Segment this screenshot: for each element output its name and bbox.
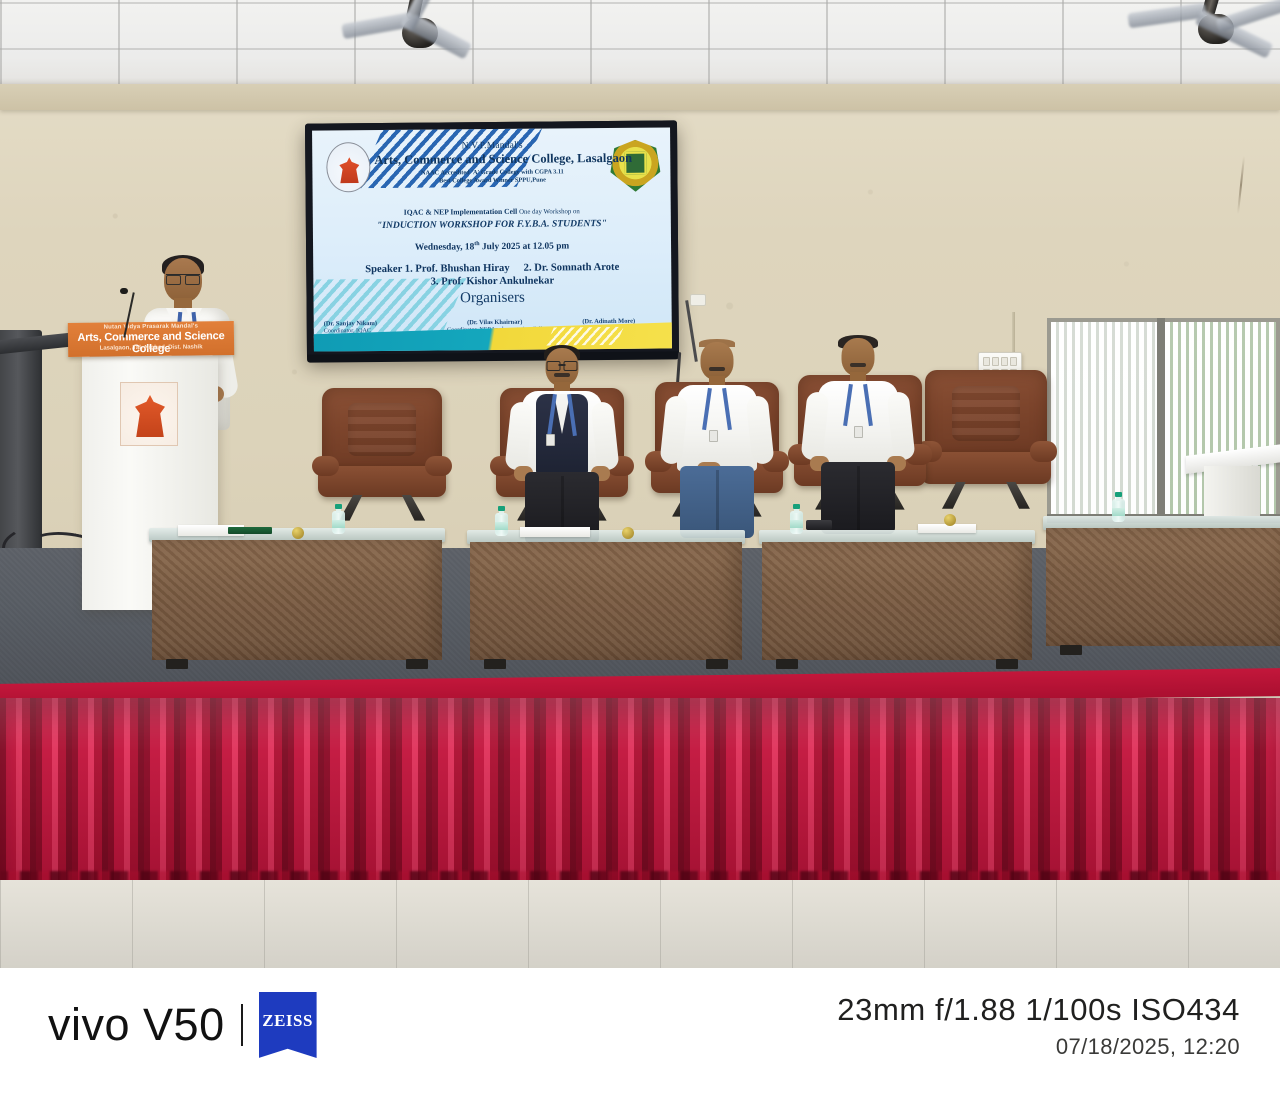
ceiling <box>0 0 1280 96</box>
table-body <box>152 540 442 660</box>
lamp-glyph <box>339 157 359 183</box>
table-foot <box>484 659 506 669</box>
mobile-phone <box>806 520 832 530</box>
green-book <box>228 527 272 534</box>
slide-cell-line: IQAC & NEP Implementation Cell One day W… <box>337 206 647 218</box>
chair-armrest <box>312 456 338 477</box>
bottle-cap <box>793 504 800 509</box>
empty-chair <box>925 370 1047 506</box>
chair-base <box>339 495 425 521</box>
presentation-slide: N.V.P.Mandal's Arts, Commerce and Scienc… <box>312 127 672 351</box>
empty-chair <box>322 388 442 518</box>
vertical-blinds <box>1051 322 1157 519</box>
papers-stack <box>520 527 590 537</box>
slide-college-name: Arts, Commerce and Science College, Lasa… <box>374 151 610 168</box>
table-foot <box>1060 645 1082 655</box>
zeiss-logo-icon: ZEISS <box>259 992 317 1058</box>
table <box>152 528 442 660</box>
stage-skirt-sheen <box>0 698 1280 888</box>
table-body <box>470 542 742 660</box>
mustache <box>850 363 866 367</box>
spectacles <box>547 361 578 369</box>
shirt <box>818 381 898 467</box>
water-bottle <box>1112 492 1125 522</box>
switch <box>1001 357 1008 366</box>
exif-timestamp: 07/18/2025, 12:20 <box>837 1034 1240 1060</box>
switch <box>1010 357 1017 366</box>
trousers <box>821 462 895 534</box>
university-crest-logo-icon <box>610 140 660 192</box>
water-bottle <box>790 504 803 534</box>
window-pane <box>1051 322 1157 519</box>
stage-skirt <box>0 676 1280 891</box>
shirt <box>677 385 757 471</box>
college-emblem-icon <box>120 382 178 446</box>
brand-name: vivo V50 <box>48 999 225 1051</box>
exif-settings: 23mm f/1.88 1/100s ISO434 <box>837 992 1240 1028</box>
nehru-jacket <box>536 394 588 474</box>
slide-date-post: July 2025 at 12.05 pm <box>480 241 570 252</box>
water-bottle <box>332 504 345 534</box>
table-foot <box>776 659 798 669</box>
slide-speakers-block: Speaker 1. Prof. Bhushan Hiray2. Dr. Som… <box>331 262 653 309</box>
switch <box>983 357 990 366</box>
floor-tiles <box>0 880 1280 968</box>
slide-award-line: Best College Award Winner SPPU,Pune <box>374 176 610 185</box>
table-foot <box>706 659 728 669</box>
brass-bell <box>622 527 634 539</box>
spectacles <box>166 274 200 282</box>
mustache <box>554 373 570 377</box>
chair-armrest <box>1030 441 1057 463</box>
brand-divider <box>241 1004 243 1046</box>
zeiss-wordmark: ZEISS <box>262 1011 313 1031</box>
brass-bell <box>944 514 956 526</box>
head <box>701 342 734 380</box>
bottle-label <box>332 520 345 528</box>
slide-mandal-line: N.V.P.Mandal's <box>374 140 610 152</box>
wall-socket <box>690 294 706 306</box>
head <box>842 338 875 376</box>
slide-workshop-block: IQAC & NEP Implementation Cell One day W… <box>337 206 647 254</box>
table-foot <box>996 659 1018 669</box>
wall-mounted-display: N.V.P.Mandal's Arts, Commerce and Scienc… <box>305 120 679 358</box>
table-body <box>762 542 1032 660</box>
id-badge <box>546 434 555 446</box>
lectern-body <box>1204 466 1260 516</box>
panelist-2 <box>665 342 769 542</box>
slide-speaker-1: Speaker 1. Prof. Bhushan Hiray <box>365 263 510 275</box>
bottle-cap <box>1115 492 1122 497</box>
window-mullion <box>1157 318 1165 523</box>
bottle-label <box>790 520 803 528</box>
water-bottle <box>495 506 508 536</box>
fan-blade <box>1216 0 1280 33</box>
brass-bell <box>292 527 304 539</box>
jeans <box>680 466 754 538</box>
id-badge <box>709 430 718 442</box>
brand-block: vivo V50 ZEISS <box>48 992 317 1058</box>
slide-header: N.V.P.Mandal's Arts, Commerce and Scienc… <box>374 140 610 185</box>
slide-footer-stripes <box>546 327 624 346</box>
id-badge <box>854 426 863 438</box>
ceiling-fan <box>1120 0 1280 64</box>
slide-cell-prefix: IQAC & NEP Implementation Cell <box>404 207 518 217</box>
fan-blade <box>1127 3 1206 29</box>
photograph: N.V.P.Mandal's Arts, Commerce and Scienc… <box>0 0 1280 968</box>
switch <box>992 357 999 366</box>
chair-back <box>925 370 1047 457</box>
panelist-3 <box>806 338 910 538</box>
table <box>762 530 1032 660</box>
slide-speaker-3: 3. Prof. Kishor Ankulnekar <box>331 275 653 289</box>
table-body <box>1046 528 1280 646</box>
slide-organisers-heading: Organisers <box>331 289 653 309</box>
college-lamp-logo-icon <box>326 142 370 192</box>
camera-watermark-bar: vivo V50 ZEISS 23mm f/1.88 1/100s ISO434… <box>0 968 1280 1097</box>
slide-cell-suffix: One day Workshop on <box>519 208 580 216</box>
podium-banner: Nutan Vidya Prasarak Mandal's Arts, Comm… <box>68 321 234 357</box>
slide-date-pre: Wednesday, 18 <box>415 242 474 253</box>
bottle-cap <box>335 504 342 509</box>
chair-base <box>942 482 1030 509</box>
bottle-label <box>495 522 508 530</box>
chair-back <box>322 388 442 471</box>
microphone <box>120 288 128 294</box>
slide-date-line: Wednesday, 18th July 2025 at 12.05 pm <box>337 240 647 254</box>
ceiling-fan <box>350 0 500 60</box>
panelist-1 <box>510 348 614 548</box>
table-foot <box>166 659 188 669</box>
slide-workshop-title: "INDUCTION WORKSHOP FOR F.Y.B.A. STUDENT… <box>337 218 647 232</box>
table <box>470 530 742 660</box>
white-lectern <box>1186 450 1280 516</box>
exif-block: 23mm f/1.88 1/100s ISO434 07/18/2025, 12… <box>837 992 1240 1060</box>
lamp-glyph <box>135 395 165 437</box>
podium-banner-line-2: Arts, Commerce and Science College <box>68 330 234 356</box>
bottle-label <box>1112 508 1125 516</box>
table-foot <box>406 659 428 669</box>
table <box>1046 516 1280 646</box>
bottle-cap <box>498 506 505 511</box>
mustache <box>709 367 725 371</box>
slide-speaker-2: 2. Dr. Somnath Arote <box>524 262 620 274</box>
chair-armrest <box>425 456 451 477</box>
slide-speaker-row-1: Speaker 1. Prof. Bhushan Hiray2. Dr. Som… <box>331 262 653 276</box>
